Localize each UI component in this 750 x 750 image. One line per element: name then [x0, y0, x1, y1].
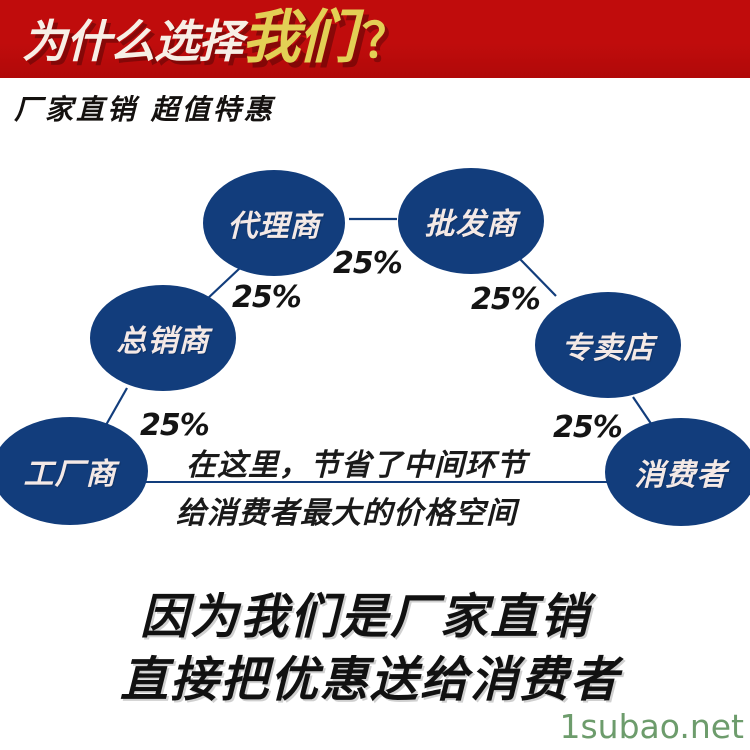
node-store-label: 专卖店	[562, 323, 655, 367]
node-consumer[interactable]: 消费者	[605, 418, 750, 526]
header-title: 为什么选择我们？	[22, 8, 410, 66]
middle-copy-line-1: 在这里，节省了中间环节	[186, 440, 527, 484]
margin-label-wholesaler-store: 25%	[471, 282, 540, 317]
node-factory[interactable]: 工厂商	[0, 417, 148, 525]
sub-slogan: 厂家直销 超值特惠	[14, 88, 275, 128]
bottom-slogan-line-1: 因为我们是厂家直销	[140, 577, 590, 647]
margin-label-agent-wholesaler: 25%	[333, 246, 402, 281]
promo-banner-page: 为什么选择我们？ 厂家直销 超值特惠 代理商 批发商 总销商 专卖店	[0, 0, 750, 750]
bottom-slogan-line-2: 直接把优惠送给消费者	[120, 640, 620, 710]
margin-label-store-consumer: 25%	[553, 410, 622, 445]
node-store[interactable]: 专卖店	[535, 292, 681, 398]
middle-copy-line-2: 给消费者最大的价格空间	[176, 488, 517, 532]
header-banner: 为什么选择我们？	[0, 0, 750, 78]
header-title-part-2: 我们	[242, 3, 354, 71]
node-agent[interactable]: 代理商	[203, 170, 345, 276]
node-distributor-label: 总销商	[117, 316, 210, 360]
connector-factory-distributor	[106, 388, 127, 425]
node-factory-label: 工厂商	[24, 449, 117, 493]
margin-label-factory-distributor: 25%	[140, 408, 209, 443]
header-title-part-1: 为什么选择	[22, 15, 242, 68]
node-consumer-label: 消费者	[635, 450, 728, 494]
margin-label-distributor-agent: 25%	[232, 280, 301, 315]
node-wholesaler-label: 批发商	[425, 199, 518, 243]
node-wholesaler[interactable]: 批发商	[398, 168, 544, 274]
header-title-question-mark: ？	[362, 13, 410, 69]
node-agent-label: 代理商	[228, 201, 321, 245]
node-distributor[interactable]: 总销商	[90, 285, 236, 391]
watermark: 1subao.net	[559, 707, 744, 746]
